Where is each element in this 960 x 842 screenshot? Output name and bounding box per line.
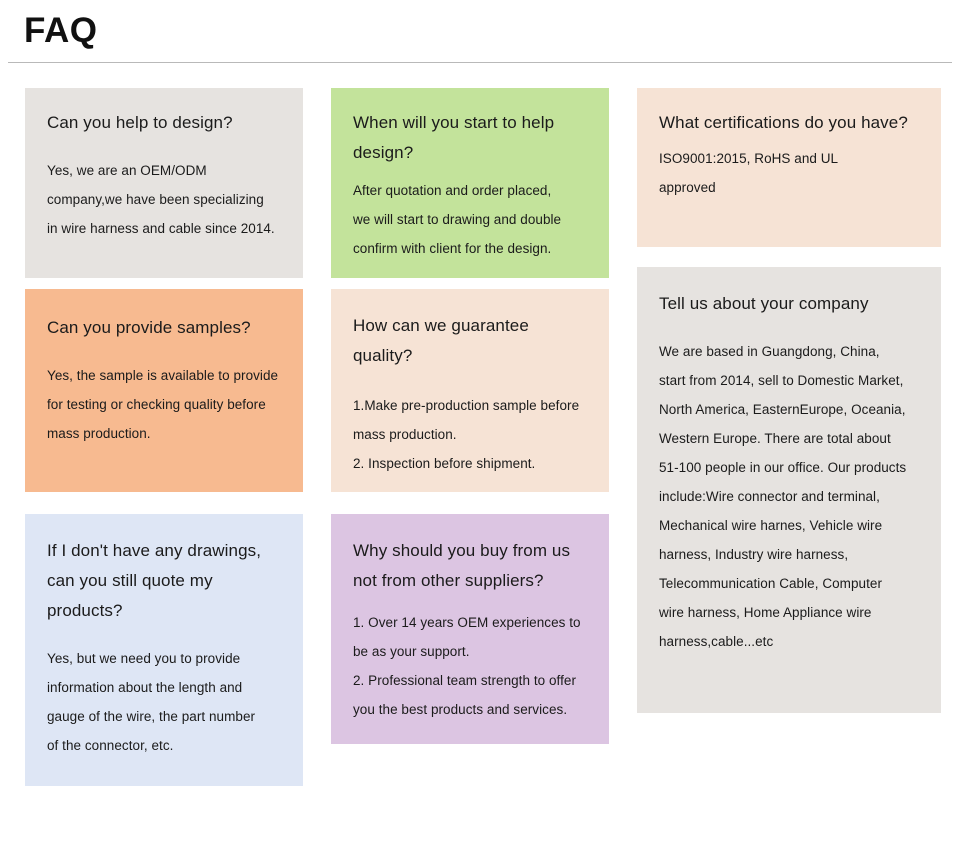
faq-question: Why should you buy from us not from othe… (353, 536, 587, 596)
answer-line: include:Wire connector and terminal, (659, 482, 919, 511)
answer-line: we will start to drawing and double (353, 205, 587, 234)
answer-line: Mechanical wire harnes, Vehicle wire (659, 511, 919, 540)
answer-line: gauge of the wire, the part number (47, 702, 281, 731)
faq-column-1: Can you help to design? Yes, we are an O… (25, 88, 303, 797)
answer-line: confirm with client for the design. (353, 234, 587, 263)
answer-line: 2. Inspection before shipment. (353, 449, 587, 478)
faq-question: Can you help to design? (47, 108, 281, 138)
faq-card-can-you-provide-samples[interactable]: Can you provide samples? Yes, the sample… (25, 289, 303, 492)
faq-column-2: When will you start to help design? Afte… (331, 88, 609, 755)
answer-line: information about the length and (47, 673, 281, 702)
faq-answer: Yes, we are an OEM/ODM company,we have b… (47, 156, 281, 243)
faq-answer: 1. Over 14 years OEM experiences to be a… (353, 608, 587, 724)
faq-card-how-guarantee-quality[interactable]: How can we guarantee quality? 1.Make pre… (331, 289, 609, 492)
answer-line: Western Europe. There are total about (659, 424, 919, 453)
answer-line: North America, EasternEurope, Oceania, (659, 395, 919, 424)
answer-line: Telecommunication Cable, Computer (659, 569, 919, 598)
faq-column-3: What certifications do you have? ISO9001… (637, 88, 941, 724)
answer-line: 1. Over 14 years OEM experiences to (353, 608, 587, 637)
answer-line: Yes, but we need you to provide (47, 644, 281, 673)
answer-line: you the best products and services. (353, 695, 587, 724)
answer-line: Yes, we are an OEM/ODM (47, 156, 281, 185)
answer-line: 1.Make pre-production sample before (353, 391, 587, 420)
answer-line: We are based in Guangdong, China, (659, 337, 919, 366)
answer-line: After quotation and order placed, (353, 176, 587, 205)
answer-line: Yes, the sample is available to provide (47, 361, 281, 390)
answer-line: 51-100 people in our office. Our product… (659, 453, 919, 482)
header-divider (8, 62, 952, 63)
answer-line: 2. Professional team strength to offer (353, 666, 587, 695)
answer-line: in wire harness and cable since 2014. (47, 214, 281, 243)
faq-question: If I don't have any drawings, can you st… (47, 536, 281, 626)
answer-line: of the connector, etc. (47, 731, 281, 760)
faq-question: When will you start to help design? (353, 108, 587, 168)
answer-line: harness,cable...etc (659, 627, 919, 656)
page-title: FAQ (24, 9, 97, 53)
answer-line: for testing or checking quality before (47, 390, 281, 419)
answer-line: ISO9001:2015, RoHS and UL (659, 144, 919, 173)
faq-page: FAQ Can you help to design? Yes, we are … (0, 0, 960, 842)
answer-line: mass production. (47, 419, 281, 448)
faq-answer: Yes, the sample is available to provide … (47, 361, 281, 448)
faq-card-tell-us-about-your-company[interactable]: Tell us about your company We are based … (637, 267, 941, 713)
faq-answer: ISO9001:2015, RoHS and UL approved (659, 144, 919, 202)
faq-card-can-you-help-to-design[interactable]: Can you help to design? Yes, we are an O… (25, 88, 303, 278)
answer-line: mass production. (353, 420, 587, 449)
answer-line: start from 2014, sell to Domestic Market… (659, 366, 919, 395)
answer-line: company,we have been specializing (47, 185, 281, 214)
answer-line: be as your support. (353, 637, 587, 666)
faq-card-why-buy-from-us[interactable]: Why should you buy from us not from othe… (331, 514, 609, 744)
faq-card-no-drawings-quote[interactable]: If I don't have any drawings, can you st… (25, 514, 303, 786)
faq-question: Can you provide samples? (47, 313, 281, 343)
faq-answer: We are based in Guangdong, China, start … (659, 337, 919, 656)
faq-question: What certifications do you have? (659, 108, 919, 138)
faq-answer: Yes, but we need you to provide informat… (47, 644, 281, 760)
answer-line: harness, Industry wire harness, (659, 540, 919, 569)
answer-line: approved (659, 173, 919, 202)
faq-answer: 1.Make pre-production sample before mass… (353, 391, 587, 478)
faq-question: How can we guarantee quality? (353, 311, 587, 371)
page-header: FAQ (0, 0, 960, 63)
faq-question: Tell us about your company (659, 289, 919, 319)
faq-answer: After quotation and order placed, we wil… (353, 176, 587, 263)
faq-card-when-will-you-start[interactable]: When will you start to help design? Afte… (331, 88, 609, 278)
answer-line: wire harness, Home Appliance wire (659, 598, 919, 627)
faq-card-what-certifications[interactable]: What certifications do you have? ISO9001… (637, 88, 941, 247)
